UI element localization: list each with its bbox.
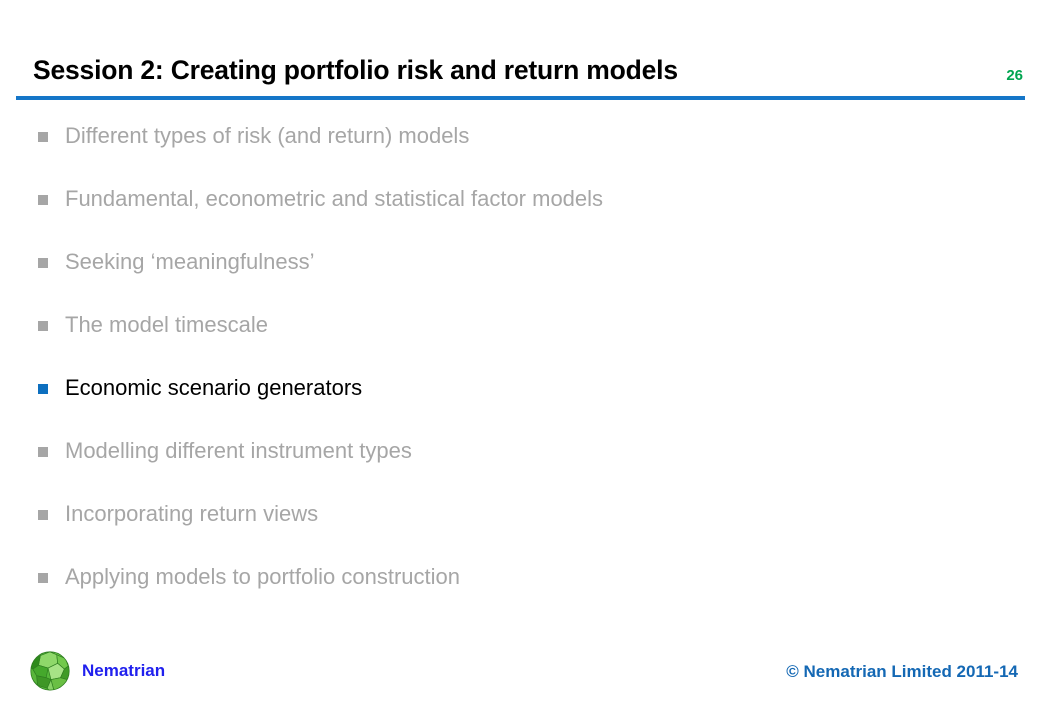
list-item-label: Different types of risk (and return) mod… [65,120,469,152]
brand-logo-group[interactable]: Nematrian [26,646,165,694]
bullet-square-icon [38,132,48,142]
agenda-list: Different types of risk (and return) mod… [0,120,1040,624]
bullet-square-icon [38,258,48,268]
bullet-square-icon [38,573,48,583]
copyright-notice: © Nematrian Limited 2011-14 [786,663,1018,680]
list-item[interactable]: Seeking ‘meaningfulness’ [0,246,1040,309]
bullet-square-icon [38,195,48,205]
bullet-square-icon [38,510,48,520]
list-item[interactable]: The model timescale [0,309,1040,372]
page-number: 26 [1006,68,1023,83]
page-title: Session 2: Creating portfolio risk and r… [33,57,678,84]
header-divider [16,96,1025,100]
bullet-square-icon [38,384,48,394]
bullet-square-icon [38,321,48,331]
list-item[interactable]: Modelling different instrument types [0,435,1040,498]
list-item-label: Applying models to portfolio constructio… [65,561,460,593]
list-item[interactable]: Fundamental, econometric and statistical… [0,183,1040,246]
list-item-label: Seeking ‘meaningfulness’ [65,246,315,278]
list-item-label: The model timescale [65,309,268,341]
polyhedron-sphere-icon [26,646,74,694]
list-item[interactable]: Applying models to portfolio constructio… [0,561,1040,624]
brand-name: Nematrian [82,662,165,679]
bullet-square-icon [38,447,48,457]
slide-header: Session 2: Creating portfolio risk and r… [0,0,1040,100]
slide-canvas: Session 2: Creating portfolio risk and r… [0,0,1040,720]
list-item-label: Economic scenario generators [65,372,362,404]
list-item-label: Incorporating return views [65,498,318,530]
list-item[interactable]: Incorporating return views [0,498,1040,561]
list-item-label: Fundamental, econometric and statistical… [65,183,603,215]
list-item-label: Modelling different instrument types [65,435,412,467]
list-item[interactable]: Different types of risk (and return) mod… [0,120,1040,183]
list-item-active[interactable]: Economic scenario generators [0,372,1040,435]
slide-footer: Nematrian © Nematrian Limited 2011-14 [0,632,1040,720]
